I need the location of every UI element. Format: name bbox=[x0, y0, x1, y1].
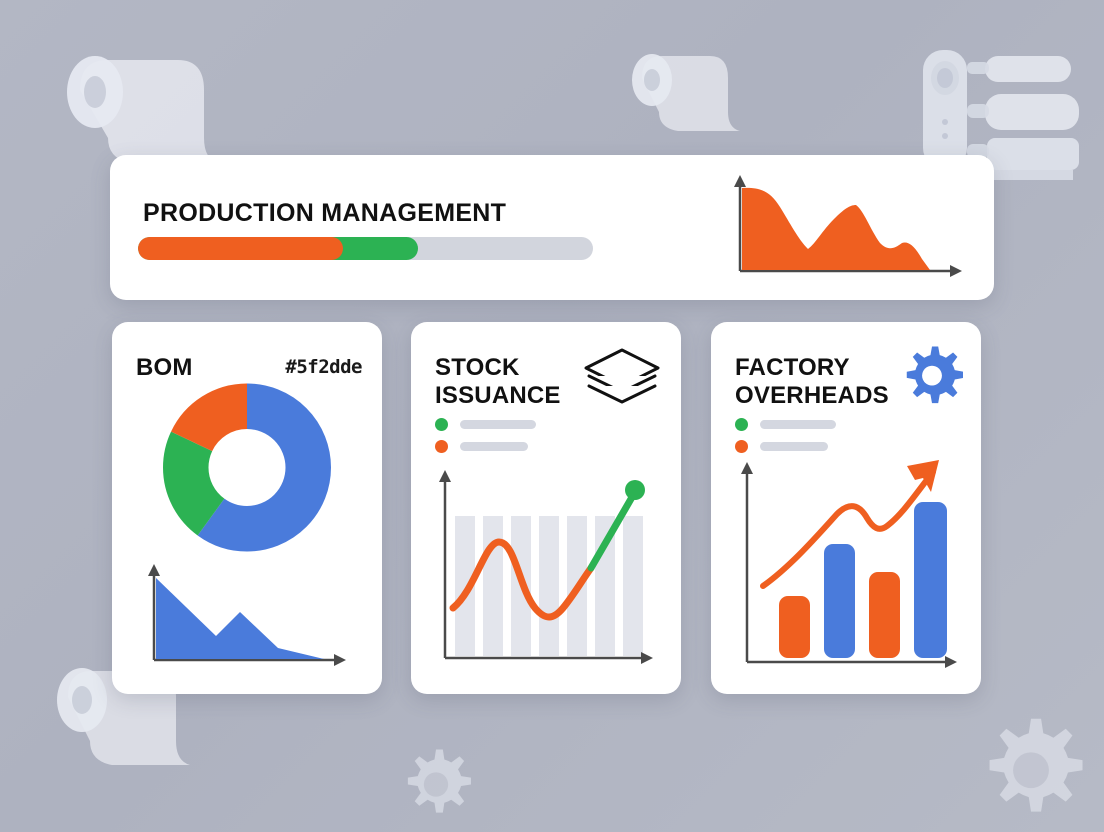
card-stock-issuance[interactable]: STOCK ISSUANCE bbox=[411, 322, 681, 694]
bar-q4 bbox=[914, 502, 947, 658]
card-factory-title: FACTORY OVERHEADS bbox=[735, 354, 900, 409]
bar-q2 bbox=[824, 544, 855, 658]
legend-row bbox=[735, 418, 836, 431]
factory-overheads-bar-chart bbox=[721, 444, 973, 684]
legend-placeholder-bar bbox=[460, 420, 536, 429]
legend-row bbox=[435, 418, 536, 431]
layers-icon bbox=[579, 344, 665, 410]
gear-bottom-center-icon bbox=[398, 745, 474, 821]
legend-placeholder-bar bbox=[460, 442, 528, 451]
bom-area-chart bbox=[128, 550, 368, 680]
page-title: PRODUCTION MANAGEMENT bbox=[143, 199, 506, 228]
legend-placeholder-bar bbox=[760, 420, 836, 429]
stock-issuance-line-chart bbox=[423, 460, 671, 682]
bom-donut-chart bbox=[160, 380, 335, 555]
header-area-chart bbox=[718, 163, 978, 291]
production-management-header-card: PRODUCTION MANAGEMENT bbox=[110, 155, 994, 300]
card-bom[interactable]: BOM #5f2dde bbox=[112, 322, 382, 694]
bar-q1 bbox=[779, 596, 810, 658]
card-bom-code: #5f2dde bbox=[285, 356, 362, 378]
legend-dot-green bbox=[435, 418, 448, 431]
bar-q3 bbox=[869, 572, 900, 658]
legend-row bbox=[435, 440, 536, 453]
production-progress-bar[interactable] bbox=[138, 237, 593, 260]
card-stock-title: STOCK ISSUANCE bbox=[435, 354, 600, 409]
card-bom-title: BOM bbox=[136, 354, 193, 382]
gear-bottom-right-icon bbox=[975, 712, 1087, 824]
stock-endpoint-marker bbox=[625, 480, 645, 500]
paper-roll-top-center-icon bbox=[620, 38, 740, 143]
legend-dot-green bbox=[735, 418, 748, 431]
paper-roll-top-left-icon bbox=[50, 30, 220, 170]
progress-segment-primary bbox=[138, 237, 343, 260]
gear-icon bbox=[901, 344, 963, 406]
card-factory-overheads[interactable]: FACTORY OVERHEADS bbox=[711, 322, 981, 694]
legend-dot-orange bbox=[435, 440, 448, 453]
stock-legend bbox=[435, 418, 536, 462]
